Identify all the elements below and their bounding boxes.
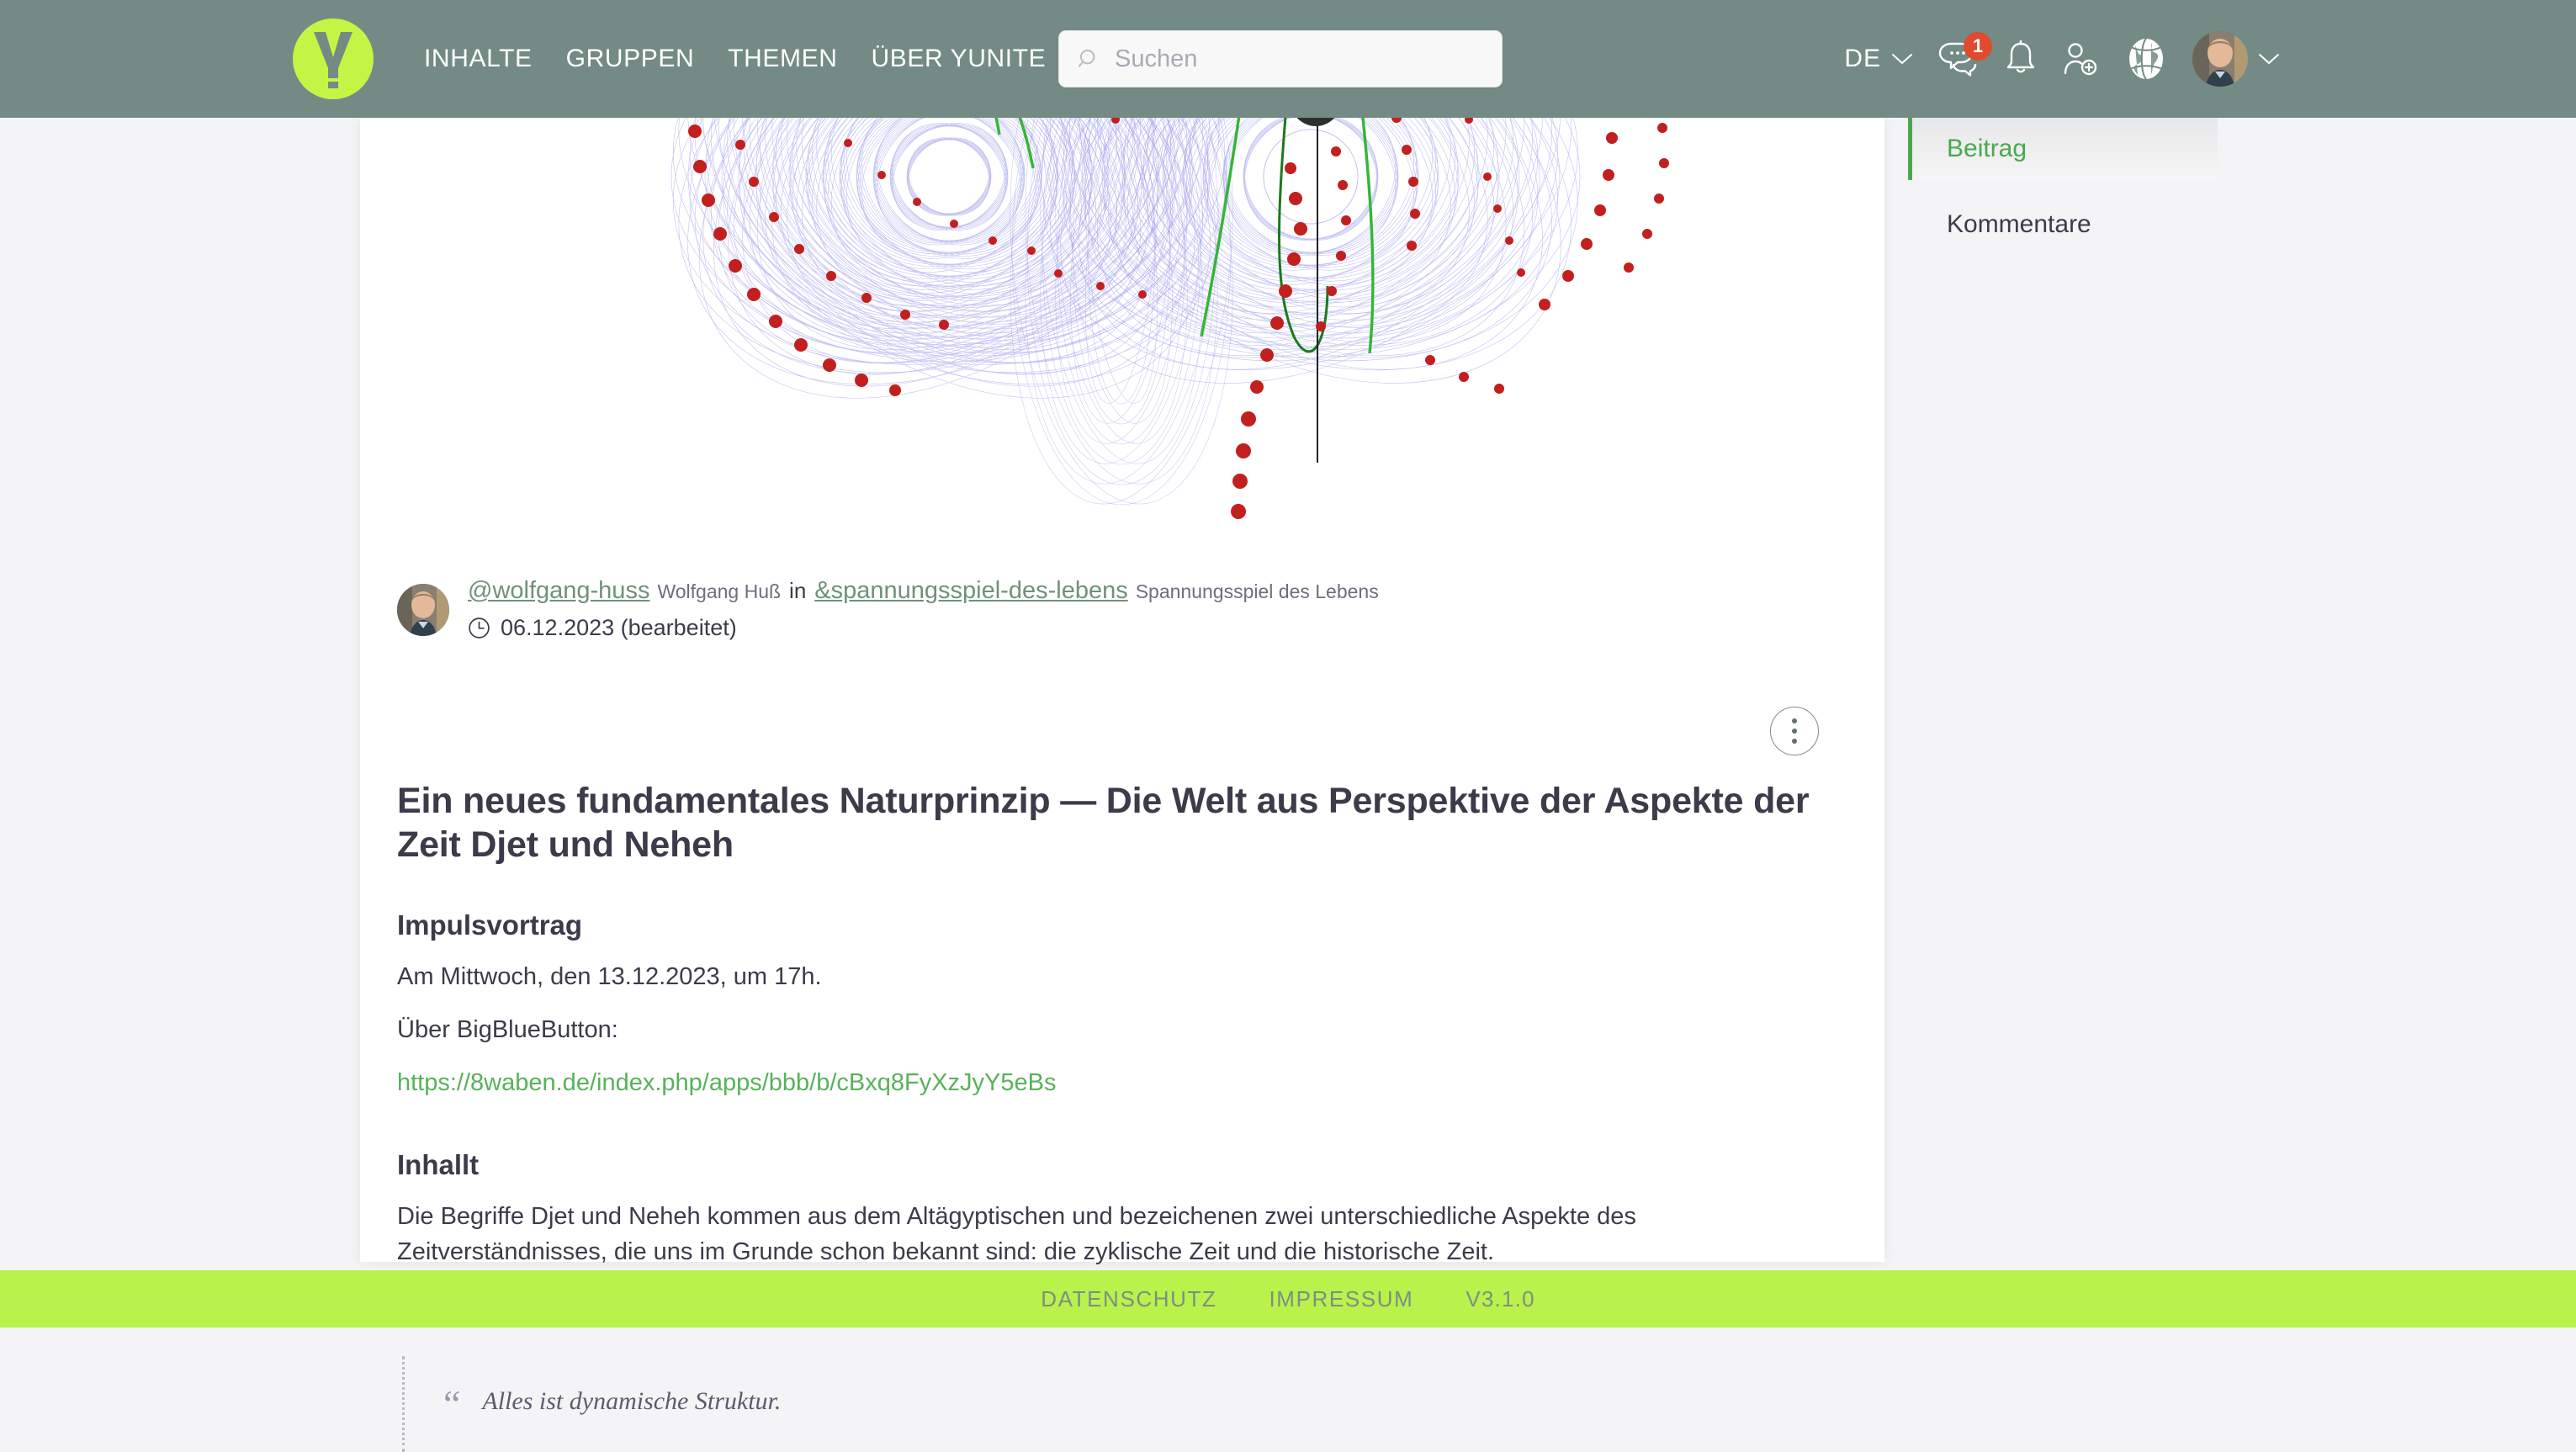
post-date: 06.12.2023 (bearbeitet)	[501, 615, 737, 641]
group-handle-link[interactable]: &spannungsspiel-des-lebens	[814, 577, 1127, 604]
search-box[interactable]	[1058, 30, 1503, 87]
footer-link-datenschutz[interactable]: DATENSCHUTZ	[1041, 1286, 1216, 1312]
nav-item-inhalte[interactable]: INHALTE	[407, 45, 549, 73]
footer-link-impressum[interactable]: IMPRESSUM	[1269, 1286, 1413, 1312]
page-body: @wolfgang-huss Wolfgang Huß in &spannung…	[0, 118, 2576, 1327]
clock-icon	[468, 617, 490, 639]
main-nav: INHALTE GRUPPEN THEMEN ÜBER YUNITE	[407, 0, 1063, 118]
search-input[interactable]	[1115, 45, 1434, 73]
byline-identity-row: @wolfgang-huss Wolfgang Huß in &spannung…	[468, 579, 1379, 603]
post-sidebar-nav: Beitrag Kommentare	[1908, 118, 2218, 256]
sidebar-item-kommentare[interactable]: Kommentare	[1908, 193, 2218, 256]
nav-item-themen[interactable]: THEMEN	[711, 45, 854, 73]
nav-item-ueber-yunite[interactable]: ÜBER YUNITE	[855, 45, 1063, 73]
language-label: DE	[1844, 45, 1881, 73]
avatar	[2192, 31, 2248, 87]
byline-date-row: 06.12.2023 (bearbeitet)	[468, 615, 1379, 641]
sidebar-item-label: Kommentare	[1947, 210, 2091, 239]
nav-item-gruppen[interactable]: GRUPPEN	[549, 45, 712, 73]
post-more-menu-button[interactable]	[1770, 707, 1819, 755]
kebab-dot	[1792, 729, 1797, 734]
messages-badge: 1	[1964, 32, 1992, 61]
site-footer: DATENSCHUTZ IMPRESSUM V3.1.0	[0, 1270, 2576, 1327]
add-person-icon	[2061, 40, 2100, 78]
post-byline: @wolfgang-huss Wolfgang Huß in &spannung…	[397, 579, 1379, 641]
user-menu-button[interactable]	[2181, 0, 2292, 118]
chevron-down-icon	[1891, 52, 1913, 66]
kebab-dot	[1792, 739, 1797, 744]
kebab-dot	[1792, 718, 1797, 723]
invite-person-button[interactable]	[2049, 0, 2112, 118]
section-heading-impulsvortrag: Impulsvortrag	[397, 909, 1827, 941]
section-heading-inhallt: Inhallt	[397, 1149, 1827, 1181]
quote-text: Alles ist dynamische Struktur.	[482, 1385, 781, 1418]
language-selector[interactable]: DE	[1832, 0, 1925, 118]
post-hero-visualization	[360, 118, 1884, 538]
notifications-button[interactable]	[1992, 0, 2049, 118]
author-handle-link[interactable]: @wolfgang-huss	[468, 577, 649, 604]
pull-quote: “ Alles ist dynamische Struktur.	[402, 1356, 1827, 1452]
bell-icon	[2004, 40, 2038, 78]
paragraph-bigbluebutton: Über BigBlueButton:	[397, 1013, 1821, 1047]
byline-text: @wolfgang-huss Wolfgang Huß in &spannung…	[468, 579, 1379, 641]
top-navigation-bar: INHALTE GRUPPEN THEMEN ÜBER YUNITE DE	[0, 0, 2576, 118]
paragraph-meeting-link: https://8waben.de/index.php/apps/bbb/b/c…	[397, 1066, 1821, 1100]
globe-icon	[2123, 35, 2169, 82]
footer-version: V3.1.0	[1466, 1286, 1534, 1312]
globe-button[interactable]	[2112, 0, 2181, 118]
paragraph-djet-neheh: Die Begriffe Djet und Neheh kommen aus d…	[397, 1200, 1821, 1269]
author-name: Wolfgang Huß	[657, 580, 781, 602]
quote-mark-icon: “	[443, 1385, 460, 1423]
post-title: Ein neues fundamentales Naturprinzip — D…	[397, 779, 1810, 867]
chevron-down-icon	[2258, 52, 2280, 66]
avatar[interactable]	[397, 584, 449, 636]
bbb-meeting-link[interactable]: https://8waben.de/index.php/apps/bbb/b/c…	[397, 1069, 1057, 1096]
yunite-logo-icon[interactable]	[293, 19, 374, 99]
post-article: Ein neues fundamentales Naturprinzip — D…	[397, 779, 1827, 1452]
messages-button[interactable]: 1	[1925, 0, 1992, 118]
sidebar-item-beitrag[interactable]: Beitrag	[1908, 118, 2218, 180]
post-content-column: @wolfgang-huss Wolfgang Huß in &spannung…	[360, 118, 1884, 1262]
group-name: Spannungsspiel des Lebens	[1136, 580, 1379, 602]
search-icon	[1078, 47, 1101, 71]
byline-in-word: in	[789, 578, 806, 603]
header-actions: DE 1	[1832, 0, 2292, 118]
sidebar-item-label: Beitrag	[1947, 135, 2027, 163]
paragraph-date-time: Am Mittwoch, den 13.12.2023, um 17h.	[397, 960, 1821, 994]
